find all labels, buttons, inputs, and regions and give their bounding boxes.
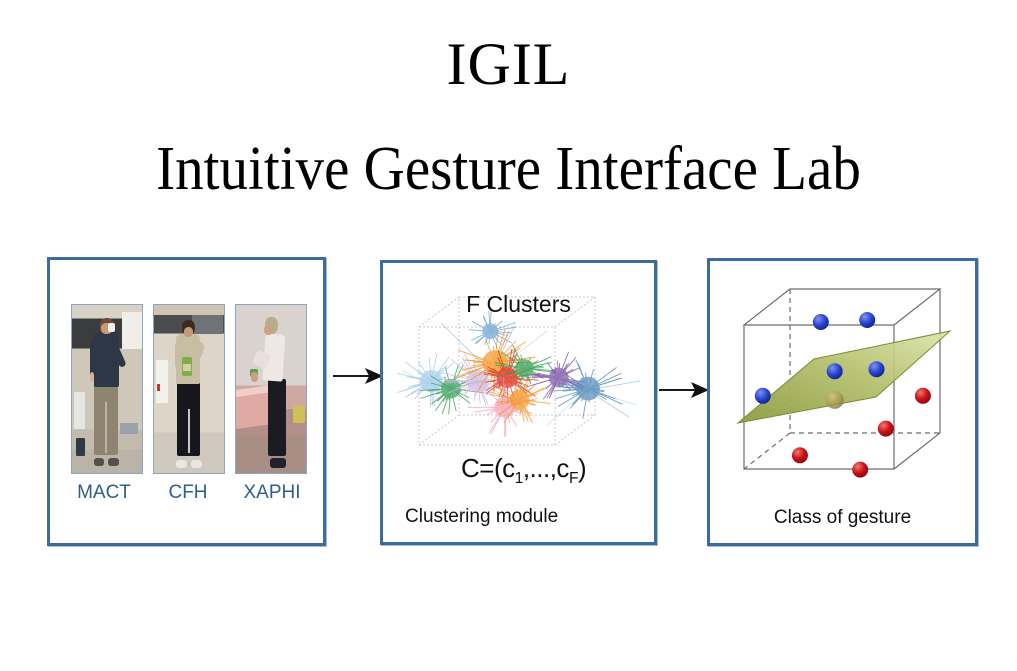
photo-wall [122,312,142,349]
data-point-below-plane-1 [878,421,894,437]
formula-sub1: 1 [515,470,523,487]
photo-shoe-right [191,460,202,468]
photo-shoe-right [108,458,119,466]
formula-sub2: F [569,470,578,487]
arrow-clustering-to-class-icon [657,374,711,404]
data-point-above-plane-1 [859,312,875,328]
photo-cup [108,323,114,331]
photo-label-mact: MACT [62,482,146,504]
cluster-formula: C=(c1,...,cF) [383,453,654,488]
photo-shoe [270,458,287,468]
formula-lhs: C=(c [461,453,515,483]
separating-plane [738,331,950,423]
photo-paper [155,359,169,405]
class-of-gesture-caption: Class of gesture [710,507,975,529]
photo-mact[interactable] [71,304,143,474]
data-point-above-plane-4 [755,388,771,404]
photo-plaque [120,423,138,435]
photo-shoe-left [94,458,105,466]
formula-mid: ,...,c [523,453,569,483]
page-title: IGIL [0,28,1017,100]
data-point-below-plane-2 [792,447,808,463]
photo-leg-gap [105,402,107,452]
photo-bin [76,438,84,456]
data-point-above-plane-3 [869,361,885,377]
photo-hood [192,315,223,333]
photo-label-cfh: CFH [146,482,230,504]
data-point-below-plane-3 [852,462,868,478]
panel-clustering-module: F Clusters C=(c1,...,cF) Clustering modu… [380,260,657,545]
formula-rhs: ) [578,453,586,483]
photo-label-xaphi: XAPHI [230,482,314,504]
data-point-above-plane-2 [827,363,843,379]
photo-whiteboard [74,392,85,429]
data-point-on-plane-0 [826,391,844,409]
photo-shoe-left [176,460,187,468]
panel-input-gestures: MACT CFH XAPHI [47,257,326,546]
cluster-plot-title: F Clusters [383,291,654,318]
data-point-below-plane-0 [915,388,931,404]
data-point-above-plane-0 [813,314,829,330]
photo-cfh[interactable] [153,304,225,474]
class-separation-plot [728,281,960,486]
photo-person-legs [268,379,286,456]
photo-row [71,304,307,474]
photo-person-face [184,327,193,337]
photo-labels: MACT CFH XAPHI [62,482,314,504]
cluster-points [397,311,622,437]
photo-held-object-band [183,364,191,371]
clustering-module-caption: Clustering module [405,506,558,528]
photo-red-marker [157,384,161,391]
arrow-input-to-clustering-icon [331,360,385,390]
panel-class-of-gesture: Class of gesture [707,258,978,546]
photo-person-face [264,325,273,335]
photo-xaphi[interactable] [235,304,307,474]
photo-leg-gap [188,409,190,453]
page-subtitle: Intuitive Gesture Interface Lab [41,130,977,208]
photo-clutter [293,406,304,423]
